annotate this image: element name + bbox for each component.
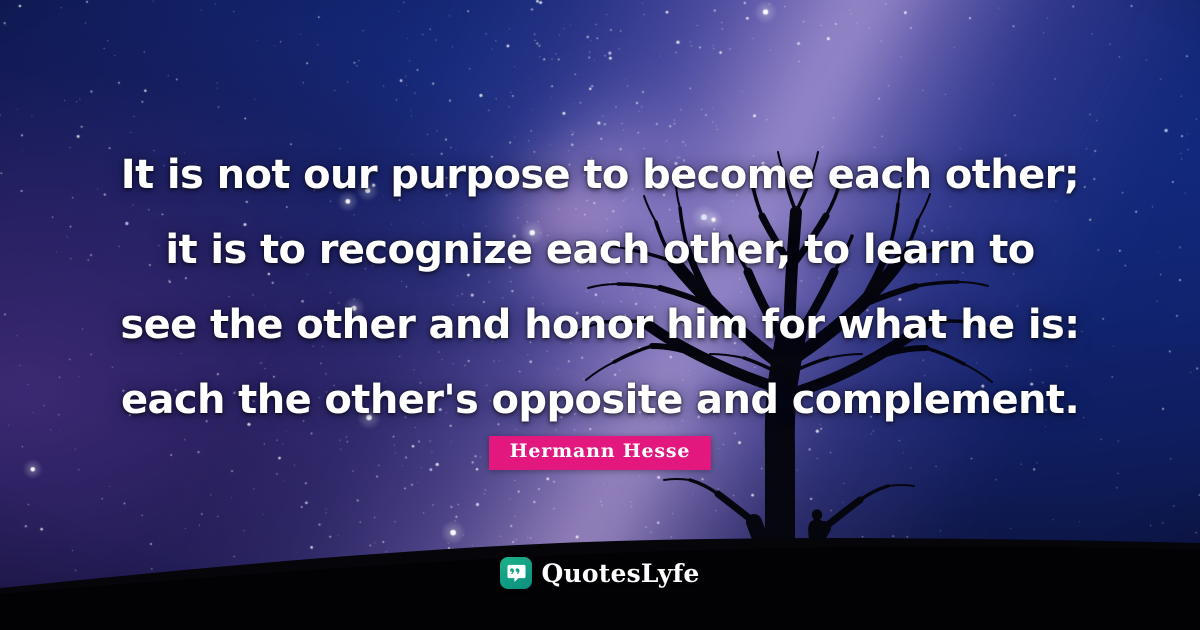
quote-line-3: see the other and honor him for what he … [58,288,1142,363]
author-badge-container: Hermann Hesse [0,436,1200,470]
quote-text-block: It is not our purpose to become each oth… [0,138,1200,438]
quote-line-4: each the other's opposite and complement… [58,363,1142,438]
quote-bubble-icon [500,557,532,589]
quote-card: It is not our purpose to become each oth… [0,0,1200,630]
quote-line-1: It is not our purpose to become each oth… [58,138,1142,213]
brand-logo[interactable]: QuotesLyfe [0,557,1200,589]
brand-name: QuotesLyfe [541,559,699,588]
quote-line-2: it is to recognize each other, to learn … [58,213,1142,288]
author-name-badge[interactable]: Hermann Hesse [489,436,712,470]
